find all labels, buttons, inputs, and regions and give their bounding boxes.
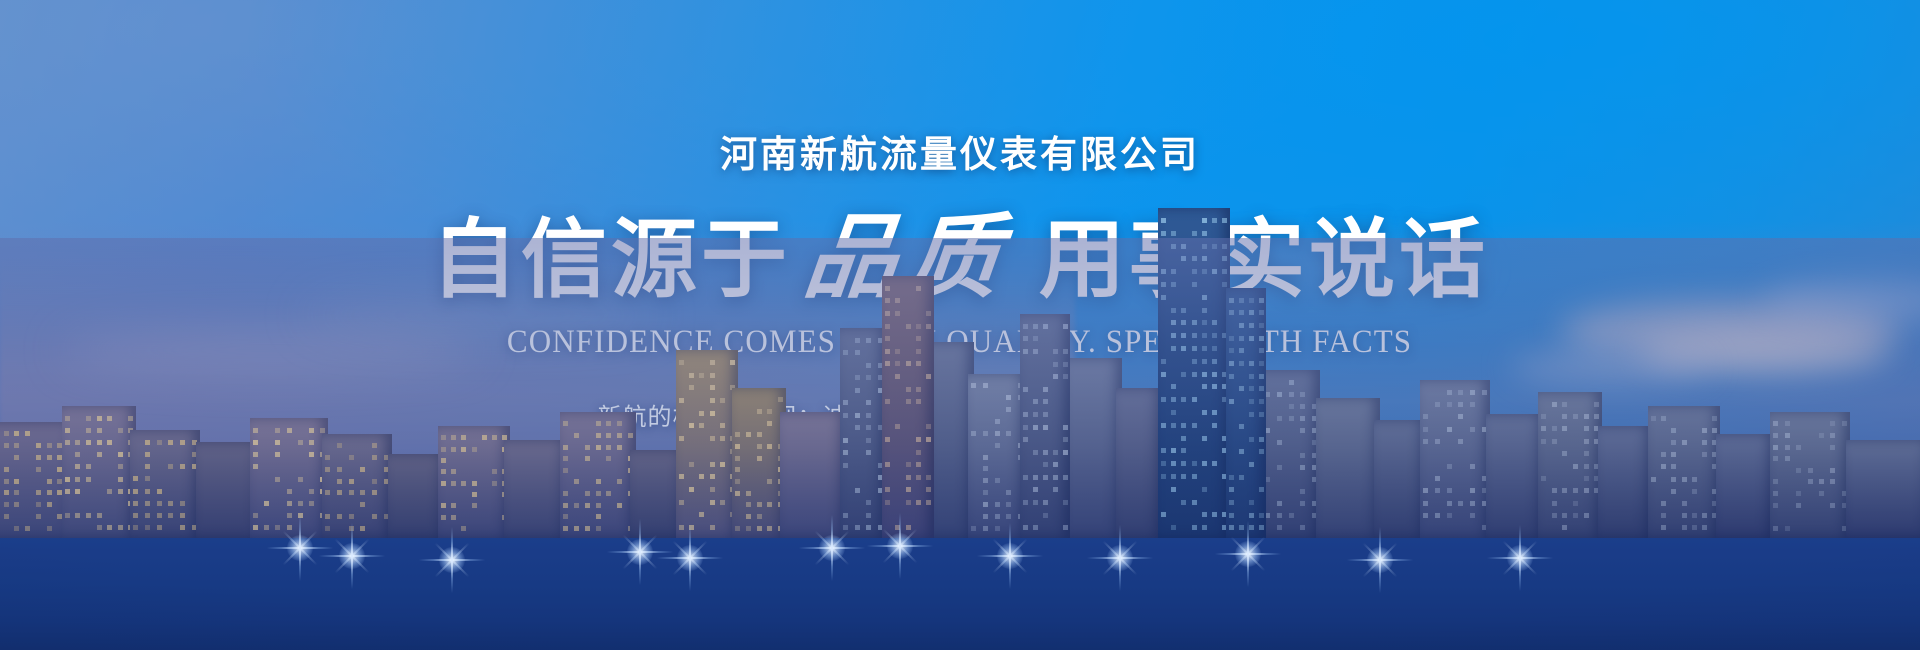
building [1538, 392, 1602, 538]
building [1116, 388, 1162, 538]
hero-banner: 河南新航流量仪表有限公司 自信源于 品质 用事实说话 CONFIDENCE CO… [0, 0, 1920, 650]
building [1486, 414, 1544, 538]
building [62, 406, 136, 538]
building [780, 412, 846, 538]
building [1770, 412, 1850, 538]
building [968, 374, 1026, 538]
building [1226, 288, 1266, 538]
headline-part-1: 自信源于 [431, 217, 791, 303]
building [1716, 434, 1774, 538]
building [1598, 426, 1652, 538]
building [438, 426, 510, 538]
building [250, 418, 328, 538]
building [1374, 420, 1426, 538]
building [840, 328, 886, 538]
building [1158, 208, 1230, 538]
building [1846, 440, 1920, 538]
building [1020, 314, 1070, 538]
building [882, 276, 934, 538]
banner-content: 河南新航流量仪表有限公司 自信源于 品质 用事实说话 CONFIDENCE CO… [0, 0, 1920, 650]
building [504, 440, 568, 538]
headline: 自信源于 品质 用事实说话 [431, 212, 1489, 304]
building [1420, 380, 1490, 538]
building [1066, 358, 1122, 538]
building [732, 388, 786, 538]
building [560, 412, 636, 538]
building [322, 434, 392, 538]
building [1648, 406, 1720, 538]
company-name: 河南新航流量仪表有限公司 [720, 124, 1200, 178]
building [1316, 398, 1380, 538]
building [130, 430, 200, 538]
building [676, 350, 738, 538]
building [1262, 370, 1320, 538]
